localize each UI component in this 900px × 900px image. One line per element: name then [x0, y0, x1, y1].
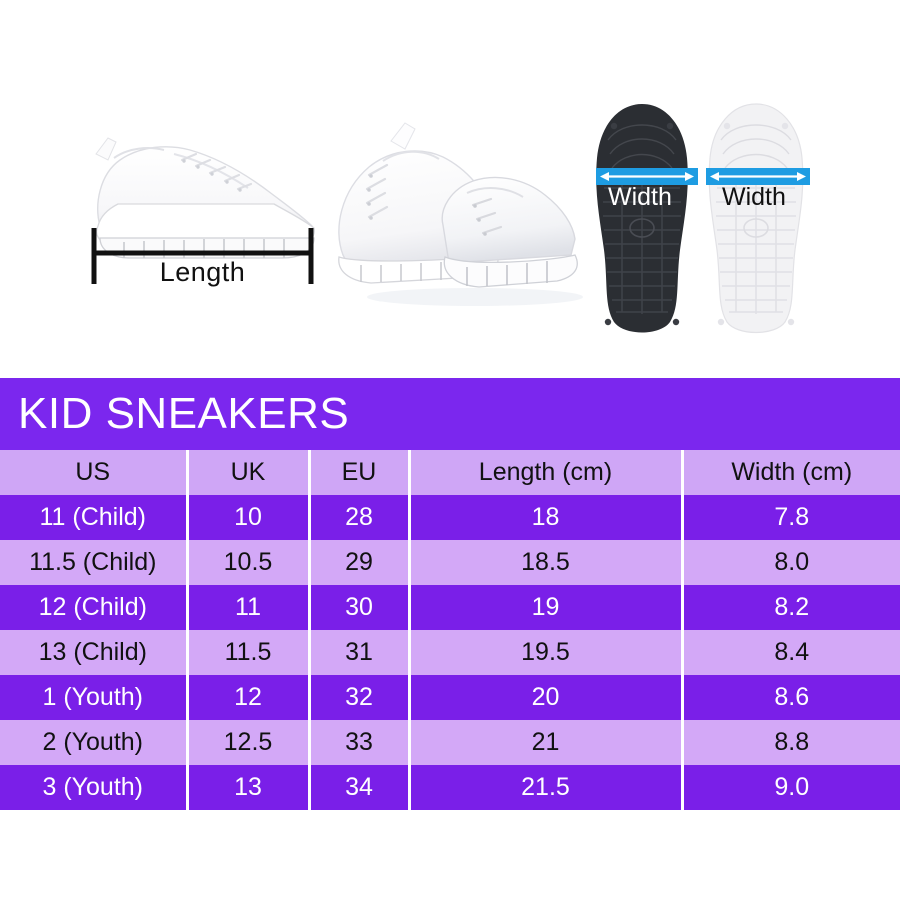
cell-length: 20	[409, 675, 682, 720]
cell-uk: 10	[187, 495, 309, 540]
table-row: 2 (Youth) 12.5 33 21 8.8	[0, 720, 900, 765]
table-body: 11 (Child) 10 28 18 7.8 11.5 (Child) 10.…	[0, 495, 900, 810]
table-row: 12 (Child) 11 30 19 8.2	[0, 585, 900, 630]
cell-width: 8.6	[682, 675, 900, 720]
table-header-row: US UK EU Length (cm) Width (cm)	[0, 450, 900, 495]
shoe-sole-light-icon	[700, 100, 812, 338]
cell-eu: 29	[309, 540, 409, 585]
cell-uk: 11	[187, 585, 309, 630]
cell-eu: 31	[309, 630, 409, 675]
cell-eu: 34	[309, 765, 409, 810]
column-header-us: US	[0, 450, 187, 495]
cell-us: 2 (Youth)	[0, 720, 187, 765]
table-row: 1 (Youth) 12 32 20 8.6	[0, 675, 900, 720]
table-row: 11 (Child) 10 28 18 7.8	[0, 495, 900, 540]
cell-width: 8.8	[682, 720, 900, 765]
table-row: 11.5 (Child) 10.5 29 18.5 8.0	[0, 540, 900, 585]
cell-width: 8.2	[682, 585, 900, 630]
column-header-uk: UK	[187, 450, 309, 495]
cell-us: 1 (Youth)	[0, 675, 187, 720]
cell-eu: 28	[309, 495, 409, 540]
cell-us: 3 (Youth)	[0, 765, 187, 810]
cell-width: 8.0	[682, 540, 900, 585]
chart-title-band: KID SNEAKERS	[0, 378, 900, 450]
shoe-sole-dark-icon	[588, 100, 696, 338]
cell-eu: 32	[309, 675, 409, 720]
cell-uk: 11.5	[187, 630, 309, 675]
cell-length: 21	[409, 720, 682, 765]
cell-eu: 30	[309, 585, 409, 630]
table-row: 3 (Youth) 13 34 21.5 9.0	[0, 765, 900, 810]
cell-width: 9.0	[682, 765, 900, 810]
cell-us: 12 (Child)	[0, 585, 187, 630]
column-header-width: Width (cm)	[682, 450, 900, 495]
cell-uk: 12.5	[187, 720, 309, 765]
cell-width: 7.8	[682, 495, 900, 540]
cell-length: 21.5	[409, 765, 682, 810]
illustration-panel: Length	[0, 0, 900, 378]
length-label: Length	[90, 252, 315, 292]
cell-uk: 12	[187, 675, 309, 720]
chart-title: KID SNEAKERS	[18, 392, 349, 436]
cell-uk: 10.5	[187, 540, 309, 585]
cell-width: 8.4	[682, 630, 900, 675]
sneaker-pair-angled-icon	[325, 105, 585, 320]
cell-uk: 13	[187, 765, 309, 810]
column-header-length: Length (cm)	[409, 450, 682, 495]
cell-us: 11 (Child)	[0, 495, 187, 540]
cell-us: 13 (Child)	[0, 630, 187, 675]
width-label-dark: Width	[608, 183, 672, 212]
size-chart: KID SNEAKERS US UK EU Length (cm) Width …	[0, 378, 900, 810]
column-header-eu: EU	[309, 450, 409, 495]
table-row: 13 (Child) 11.5 31 19.5 8.4	[0, 630, 900, 675]
size-table: US UK EU Length (cm) Width (cm) 11 (Chil…	[0, 450, 900, 810]
cell-length: 18	[409, 495, 682, 540]
cell-us: 11.5 (Child)	[0, 540, 187, 585]
width-label-light: Width	[722, 183, 786, 212]
cell-length: 19.5	[409, 630, 682, 675]
cell-eu: 33	[309, 720, 409, 765]
cell-length: 19	[409, 585, 682, 630]
cell-length: 18.5	[409, 540, 682, 585]
